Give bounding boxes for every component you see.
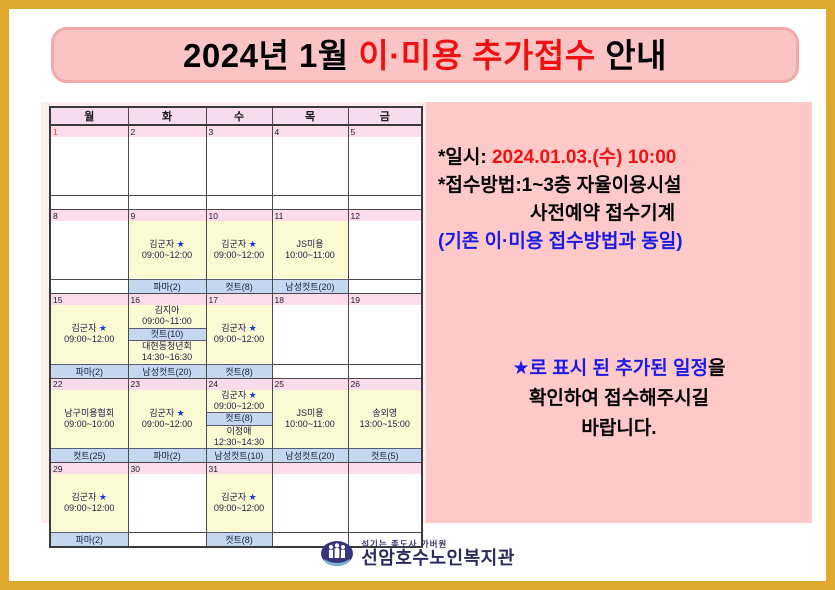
- welfare-center-logo-icon: [320, 540, 354, 567]
- notice-line-1-blue: ★로 표시 된 추가된 일정: [513, 358, 708, 379]
- event-time: 09:00~10:00: [64, 419, 114, 430]
- info-method-line2: 사전예약 접수기계: [438, 200, 812, 228]
- star-icon: ★: [249, 323, 257, 333]
- day-number-empty: [272, 463, 348, 475]
- event-time: 09:00~12:00: [214, 401, 264, 412]
- day-cell-3: [206, 137, 272, 196]
- day-cell-content: 김군자 ★09:00~12:00: [51, 305, 128, 364]
- day-cell-content: [349, 305, 422, 364]
- logo-tagline: 섬기는 종도사 가버원: [361, 540, 515, 549]
- day-cell-content: 김군자 ★09:00~12:00: [129, 221, 206, 279]
- day-cell-4: [272, 137, 348, 196]
- day-number-15: 15: [50, 294, 128, 306]
- calendar-content-row: 김군자 ★09:00~12:00김지아09:00~11:00컷트(10)대현동청…: [50, 305, 422, 364]
- star-icon: ★: [99, 492, 107, 502]
- poster-root: 2024년 1월 이·미용 추가접수 안내 월 화 수 목 금 12345891…: [0, 0, 835, 590]
- calendar-daynum-row: 2223242526: [50, 378, 422, 390]
- event-name: 남구미용협회: [64, 408, 114, 419]
- service-badge-empty: [50, 280, 128, 294]
- info-date-value: 2024.01.03.(수) 10:00: [492, 147, 676, 168]
- day-cell-empty: [272, 474, 348, 533]
- day-cell-18: [272, 305, 348, 364]
- day-cell-content: 김군자 ★09:00~12:00: [51, 474, 128, 532]
- service-badge-empty: [272, 196, 348, 210]
- day-cell-content: [273, 137, 348, 195]
- service-badge-inline: 컷트(8): [207, 412, 272, 426]
- info-method-label: *접수방법:: [438, 175, 522, 196]
- info-method-value: 1~3층 자율이용시설: [522, 175, 682, 196]
- star-icon: ★: [249, 390, 257, 400]
- day-cell-content: 김군자 ★09:00~12:00컷트(8)이정애12:30~14:30: [207, 390, 272, 449]
- day-number-3: 3: [206, 125, 272, 137]
- calendar-service-row: [50, 196, 422, 210]
- day-cell-content: [349, 137, 422, 195]
- day-number-23: 23: [128, 378, 206, 390]
- service-badge-24: 남성컷트(10): [206, 449, 272, 463]
- logo-text-group: 섬기는 종도사 가버원 선암호수노인복지관: [361, 540, 515, 568]
- title-prefix: 2024년 1월: [183, 37, 358, 74]
- event-name: 김지아: [155, 305, 180, 316]
- day-number-30: 30: [128, 463, 206, 475]
- event-name: 김군자 ★: [221, 323, 256, 334]
- notice-line-3: 바랍니다.: [426, 414, 812, 444]
- info-top-block: *일시: 2024.01.03.(수) 10:00 *접수방법:1~3층 자율이…: [426, 144, 812, 256]
- day-number-8: 8: [50, 210, 128, 222]
- dow-mon: 월: [50, 107, 128, 125]
- event-time: 09:00~12:00: [64, 334, 114, 345]
- star-icon: ★: [249, 239, 257, 249]
- calendar-daynum-row: 293031: [50, 463, 422, 475]
- calendar-panel: 월 화 수 목 금 1234589101112김군자 ★09:00~12:00김…: [41, 102, 426, 523]
- notice-line-1-black: 을: [708, 358, 725, 379]
- service-badge-empty: [50, 196, 128, 210]
- day-cell-25[interactable]: JS미용10:00~11:00: [272, 390, 348, 449]
- footer-logo: 섬기는 종도사 가버원 선암호수노인복지관: [9, 540, 826, 568]
- event-name: 김군자 ★: [149, 408, 184, 419]
- event-time: 09:00~12:00: [142, 419, 192, 430]
- calendar-daynum-row: 12345: [50, 125, 422, 137]
- day-number-17: 17: [206, 294, 272, 306]
- event-time: 09:00~12:00: [64, 503, 114, 514]
- day-cell-content: [129, 474, 206, 532]
- day-cell-11[interactable]: JS미용10:00~11:00: [272, 221, 348, 280]
- info-method-line: *접수방법:1~3층 자율이용시설: [438, 172, 812, 200]
- calendar-table: 월 화 수 목 금 1234589101112김군자 ★09:00~12:00김…: [49, 106, 423, 548]
- calendar-daynum-row: 89101112: [50, 210, 422, 222]
- day-number-18: 18: [272, 294, 348, 306]
- calendar-body: 1234589101112김군자 ★09:00~12:00김군자 ★09:00~…: [50, 125, 422, 547]
- day-number-16: 16: [128, 294, 206, 306]
- day-cell-17[interactable]: 김군자 ★09:00~12:00: [206, 305, 272, 364]
- service-badge-17: 컷트(8): [206, 364, 272, 378]
- calendar-header-row: 월 화 수 목 금: [50, 107, 422, 125]
- day-cell-19: [348, 305, 422, 364]
- dow-thu: 목: [272, 107, 348, 125]
- calendar-service-row: 컷트(25)파마(2)남성컷트(10)남성컷트(20)컷트(5): [50, 449, 422, 463]
- notice-line-2: 확인하여 접수해주시길: [426, 384, 812, 414]
- title-suffix: 안내: [596, 37, 667, 74]
- service-badge-15: 파마(2): [50, 364, 128, 378]
- event-time: 13:00~15:00: [360, 419, 410, 430]
- star-icon: ★: [99, 323, 107, 333]
- event-name: 김군자 ★: [72, 323, 107, 334]
- day-cell-content: 김군자 ★09:00~12:00: [129, 390, 206, 449]
- day-number-26: 26: [348, 378, 422, 390]
- info-panel: *일시: 2024.01.03.(수) 10:00 *접수방법:1~3층 자율이…: [426, 102, 812, 523]
- day-cell-10[interactable]: 김군자 ★09:00~12:00: [206, 221, 272, 280]
- day-cell-5: [348, 137, 422, 196]
- day-number-2: 2: [128, 125, 206, 137]
- service-badge-empty: [272, 364, 348, 378]
- day-cell-16[interactable]: 김지아09:00~11:00컷트(10)대현동청년회14:30~16:30: [128, 305, 206, 364]
- day-cell-content: [273, 305, 348, 364]
- day-number-10: 10: [206, 210, 272, 222]
- info-notice-block: ★로 표시 된 추가된 일정을 확인하여 접수해주시길 바랍니다.: [426, 354, 812, 444]
- day-cell-22[interactable]: 남구미용협회09:00~10:00: [50, 390, 128, 449]
- event-time: 09:00~12:00: [214, 250, 264, 261]
- day-cell-content: JS미용10:00~11:00: [273, 390, 348, 449]
- calendar-service-row: 파마(2)컷트(8)남성컷트(20): [50, 280, 422, 294]
- day-cell-content: [349, 221, 422, 279]
- event-time: 14:30~16:30: [142, 352, 192, 363]
- service-badge-empty: [206, 196, 272, 210]
- service-badge-10: 컷트(8): [206, 280, 272, 294]
- service-badge-inline: 컷트(10): [129, 328, 206, 342]
- event-name: 김군자 ★: [72, 492, 107, 503]
- event-name: JS미용: [296, 408, 323, 419]
- star-icon: ★: [177, 408, 185, 418]
- day-cell-content: 김군자 ★09:00~12:00: [207, 305, 272, 364]
- day-number-29: 29: [50, 463, 128, 475]
- day-number-25: 25: [272, 378, 348, 390]
- event-name: 송외영: [372, 408, 397, 419]
- day-cell-23[interactable]: 김군자 ★09:00~12:00: [128, 390, 206, 449]
- day-cell-content: [207, 137, 272, 195]
- service-badge-23: 파마(2): [128, 449, 206, 463]
- day-cell-29[interactable]: 김군자 ★09:00~12:00: [50, 474, 128, 533]
- day-number-12: 12: [348, 210, 422, 222]
- title-highlight: 이·미용 추가접수: [358, 37, 595, 74]
- event-time: 09:00~12:00: [214, 503, 264, 514]
- calendar-content-row: 김군자 ★09:00~12:00김군자 ★09:00~12:00: [50, 474, 422, 533]
- event-time: 09:00~12:00: [142, 250, 192, 261]
- service-badge-22: 컷트(25): [50, 449, 128, 463]
- star-icon: ★: [177, 239, 185, 249]
- service-badge-empty: [348, 280, 422, 294]
- day-cell-24[interactable]: 김군자 ★09:00~12:00컷트(8)이정애12:30~14:30: [206, 390, 272, 449]
- day-cell-content: [129, 137, 206, 195]
- service-badge-26: 컷트(5): [348, 449, 422, 463]
- service-badge-empty: [348, 196, 422, 210]
- day-cell-content: JS미용10:00~11:00: [273, 221, 348, 279]
- event-name: 대현동청년회: [142, 341, 192, 352]
- event-name: 이정애: [227, 426, 252, 437]
- event-time: 10:00~11:00: [285, 419, 335, 430]
- logo-name: 선암호수노인복지관: [361, 549, 515, 567]
- day-number-5: 5: [348, 125, 422, 137]
- calendar-daynum-row: 1516171819: [50, 294, 422, 306]
- day-number-24: 24: [206, 378, 272, 390]
- day-cell-30: [128, 474, 206, 533]
- event-name: JS미용: [296, 239, 323, 250]
- day-number-9: 9: [128, 210, 206, 222]
- day-cell-content: [273, 474, 348, 532]
- day-number-1: 1: [50, 125, 128, 137]
- day-number-19: 19: [348, 294, 422, 306]
- title-banner: 2024년 1월 이·미용 추가접수 안내: [51, 27, 799, 83]
- day-number-empty: [348, 463, 422, 475]
- dow-tue: 화: [128, 107, 206, 125]
- day-cell-15[interactable]: 김군자 ★09:00~12:00: [50, 305, 128, 364]
- service-badge-16: 남성컷트(20): [128, 364, 206, 378]
- notice-line-1: ★로 표시 된 추가된 일정을: [426, 354, 812, 384]
- day-cell-content: 김군자 ★09:00~12:00: [207, 221, 272, 279]
- event-time: 09:00~12:00: [214, 334, 264, 345]
- day-cell-1: [50, 137, 128, 196]
- event-name: 김군자 ★: [221, 239, 256, 250]
- day-number-4: 4: [272, 125, 348, 137]
- info-method-note: (기존 이·미용 접수방법과 동일): [438, 228, 812, 256]
- day-number-11: 11: [272, 210, 348, 222]
- event-time: 12:30~14:30: [214, 437, 264, 448]
- service-badge-9: 파마(2): [128, 280, 206, 294]
- day-cell-2: [128, 137, 206, 196]
- event-name: 김군자 ★: [149, 239, 184, 250]
- day-cell-content: 김군자 ★09:00~12:00: [207, 474, 272, 532]
- event-time: 09:00~11:00: [142, 316, 192, 327]
- service-badge-25: 남성컷트(20): [272, 449, 348, 463]
- day-cell-31[interactable]: 김군자 ★09:00~12:00: [206, 474, 272, 533]
- calendar-content-row: [50, 137, 422, 196]
- info-date-label: *일시:: [438, 147, 487, 168]
- service-badge-empty: [348, 364, 422, 378]
- calendar-content-row: 남구미용협회09:00~10:00김군자 ★09:00~12:00김군자 ★09…: [50, 390, 422, 449]
- info-date-line: *일시: 2024.01.03.(수) 10:00: [438, 144, 812, 172]
- page-title: 2024년 1월 이·미용 추가접수 안내: [183, 39, 667, 72]
- day-cell-content: 남구미용협회09:00~10:00: [51, 390, 128, 449]
- calendar-content-row: 김군자 ★09:00~12:00김군자 ★09:00~12:00JS미용10:0…: [50, 221, 422, 280]
- day-cell-content: [51, 137, 128, 195]
- day-cell-26[interactable]: 송외영13:00~15:00: [348, 390, 422, 449]
- day-number-31: 31: [206, 463, 272, 475]
- day-cell-content: [349, 474, 422, 532]
- day-cell-8: [50, 221, 128, 280]
- calendar-service-row: 파마(2)남성컷트(20)컷트(8): [50, 364, 422, 378]
- service-badge-11: 남성컷트(20): [272, 280, 348, 294]
- event-time: 10:00~11:00: [285, 250, 335, 261]
- service-badge-empty: [128, 196, 206, 210]
- day-cell-content: 김지아09:00~11:00컷트(10)대현동청년회14:30~16:30: [129, 305, 206, 364]
- day-cell-empty: [348, 474, 422, 533]
- day-cell-12: [348, 221, 422, 280]
- dow-fri: 금: [348, 107, 422, 125]
- star-icon: ★: [249, 492, 257, 502]
- day-number-22: 22: [50, 378, 128, 390]
- event-name: 김군자 ★: [221, 390, 256, 401]
- dow-wed: 수: [206, 107, 272, 125]
- day-cell-content: 송외영13:00~15:00: [349, 390, 422, 449]
- day-cell-9[interactable]: 김군자 ★09:00~12:00: [128, 221, 206, 280]
- day-cell-content: [51, 221, 128, 279]
- event-name: 김군자 ★: [221, 492, 256, 503]
